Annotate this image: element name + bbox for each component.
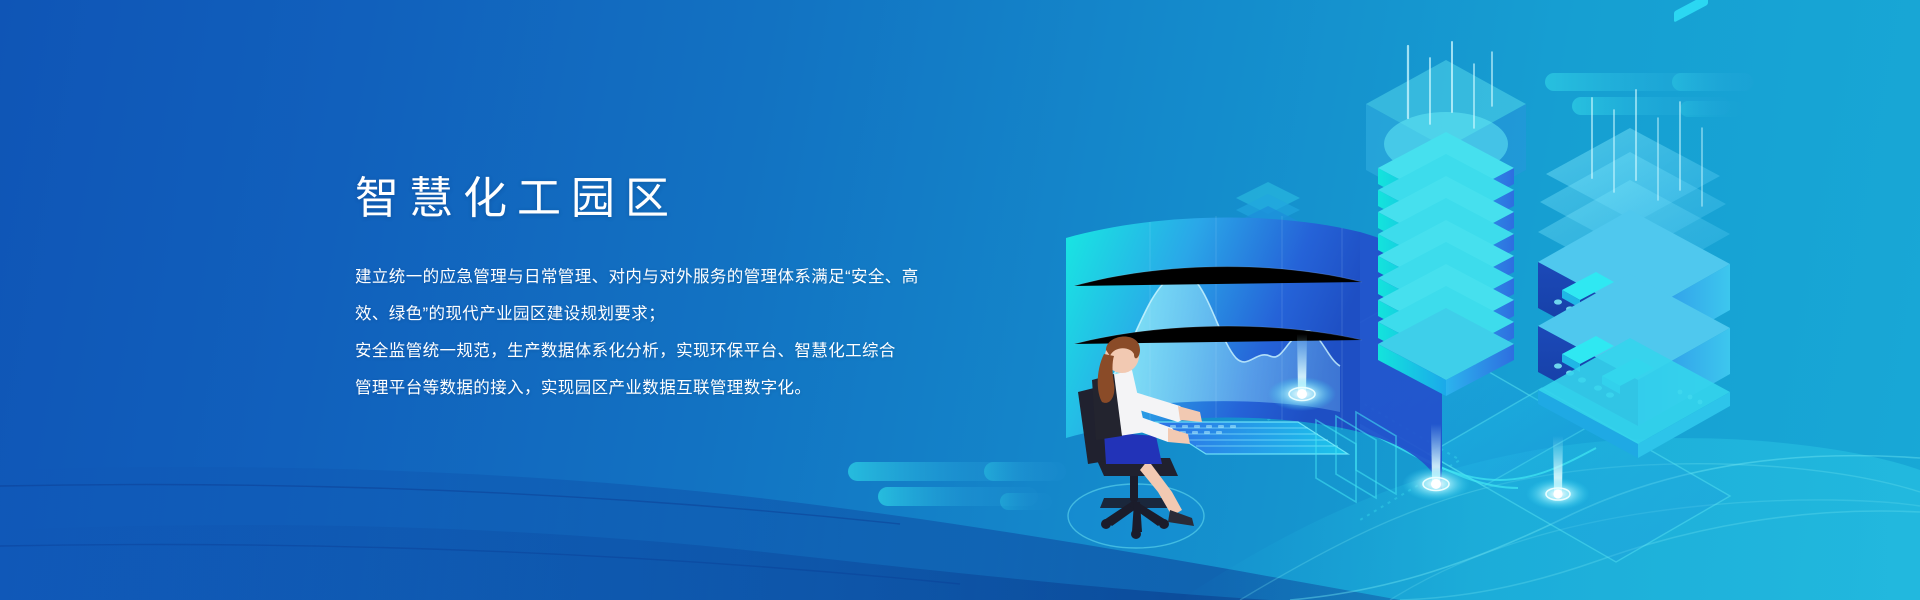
illustration-smart-park bbox=[1030, 40, 1750, 560]
description-line-2: 效、绿色”的现代产业园区建设规划要求； bbox=[355, 296, 1075, 333]
description-line-1: 建立统一的应急管理与日常管理、对内与对外服务的管理体系满足“安全、高 bbox=[355, 259, 1075, 296]
hero-description: 建立统一的应急管理与日常管理、对内与对外服务的管理体系满足“安全、高 效、绿色”… bbox=[355, 259, 1075, 407]
page-title: 智慧化工园区 bbox=[355, 175, 1075, 223]
hero-banner: 智慧化工园区 建立统一的应急管理与日常管理、对内与对外服务的管理体系满足“安全、… bbox=[0, 0, 1920, 600]
server-rack bbox=[1538, 0, 1730, 458]
description-line-3: 安全监管统一规范，生产数据体系化分析，实现环保平台、智慧化工综合 bbox=[355, 333, 1075, 370]
hero-content: 智慧化工园区 建立统一的应急管理与日常管理、对内与对外服务的管理体系满足“安全、… bbox=[355, 175, 1075, 407]
server-tower bbox=[1366, 60, 1526, 396]
description-line-4: 管理平台等数据的接入，实现园区产业数据互联管理数字化。 bbox=[355, 370, 1075, 407]
